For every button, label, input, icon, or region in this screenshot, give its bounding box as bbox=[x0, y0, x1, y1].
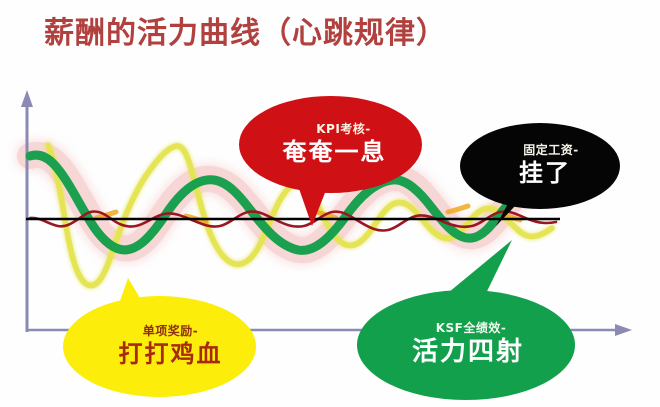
y-axis-arrow bbox=[21, 90, 33, 332]
callout-kpi-title: 奄奄一息 bbox=[275, 139, 387, 167]
callout-ksf-subtitle: KSF全绩效- bbox=[426, 322, 507, 335]
callout-single-bonus[interactable]: 单项奖励- 打打鸡血 bbox=[63, 296, 256, 397]
callout-fixed-salary[interactable]: 固定工资- 挂了 bbox=[460, 123, 620, 209]
callout-ksf-performance[interactable]: KSF全绩效- 活力四射 bbox=[357, 290, 575, 400]
callout-ksf-title: 活力四射 bbox=[408, 338, 524, 368]
callout-kpi-subtitle: KPI考核- bbox=[290, 123, 371, 136]
callout-kpi-assessment[interactable]: KPI考核- 奄奄一息 bbox=[239, 96, 422, 193]
callout-fixed-subtitle: 固定工资- bbox=[501, 144, 578, 157]
callout-bonus-subtitle: 单项奖励- bbox=[121, 325, 198, 338]
slide-canvas: 薪酬的活力曲线（心跳规律） bbox=[0, 0, 660, 407]
callout-bonus-title: 打打鸡血 bbox=[97, 341, 223, 369]
callout-fixed-title: 挂了 bbox=[509, 160, 571, 188]
